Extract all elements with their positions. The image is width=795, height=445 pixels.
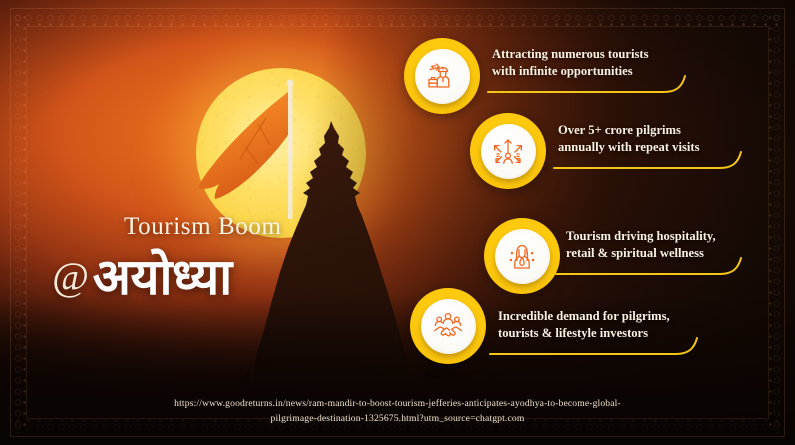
praying-woman-namaste-icon [506, 240, 538, 272]
title-hindi-row: @ अयोध्या [52, 251, 392, 304]
feature-text-1-line2: with infinite opportunities [492, 63, 648, 80]
at-symbol: @ [52, 257, 89, 297]
feature-text-2: Over 5+ crore pilgrims annually with rep… [558, 122, 699, 155]
feature-text-1-line1: Attracting numerous tourists [492, 46, 648, 63]
feature-text-1: Attracting numerous tourists with infini… [492, 46, 648, 79]
source-url[interactable]: https://www.goodreturns.in/news/ram-mand… [0, 397, 795, 427]
feature-text-4-line2: tourists & lifestyle investors [498, 325, 670, 342]
feature-badge-2[interactable] [470, 113, 546, 189]
source-url-line1: https://www.goodreturns.in/news/ram-mand… [60, 397, 735, 412]
feature-badge-inner-3 [495, 229, 550, 284]
feature-badge-inner-2 [481, 124, 536, 179]
tourist-traveler-icon [426, 60, 458, 92]
source-url-line2: pilgrimage-destination-1325675.html?utm_… [60, 412, 735, 427]
feature-text-3-line2: retail & spiritual wellness [566, 245, 716, 262]
feature-badge-inner-1 [415, 49, 470, 104]
feature-badge-inner-4 [421, 299, 476, 354]
feature-text-3-line1: Tourism driving hospitality, [566, 228, 716, 245]
feature-badge-3[interactable] [484, 218, 560, 294]
page-title-ayodhya: अयोध्या [93, 251, 232, 304]
feature-badge-4[interactable] [410, 288, 486, 364]
title-block: Tourism Boom @ अयोध्या [52, 214, 392, 304]
handshake-partnership-icon [432, 310, 464, 342]
growth-arrows-person-icon [492, 135, 524, 167]
feature-badge-1[interactable] [404, 38, 480, 114]
feature-text-2-line1: Over 5+ crore pilgrims [558, 122, 699, 139]
feature-text-2-line2: annually with repeat visits [558, 139, 699, 156]
feature-text-4: Incredible demand for pilgrims, tourists… [498, 308, 670, 341]
infographic-poster: Tourism Boom @ अयोध्या [0, 0, 795, 445]
feature-text-3: Tourism driving hospitality, retail & sp… [566, 228, 716, 261]
feature-text-4-line1: Incredible demand for pilgrims, [498, 308, 670, 325]
page-title-tourism-boom: Tourism Boom [124, 214, 392, 239]
